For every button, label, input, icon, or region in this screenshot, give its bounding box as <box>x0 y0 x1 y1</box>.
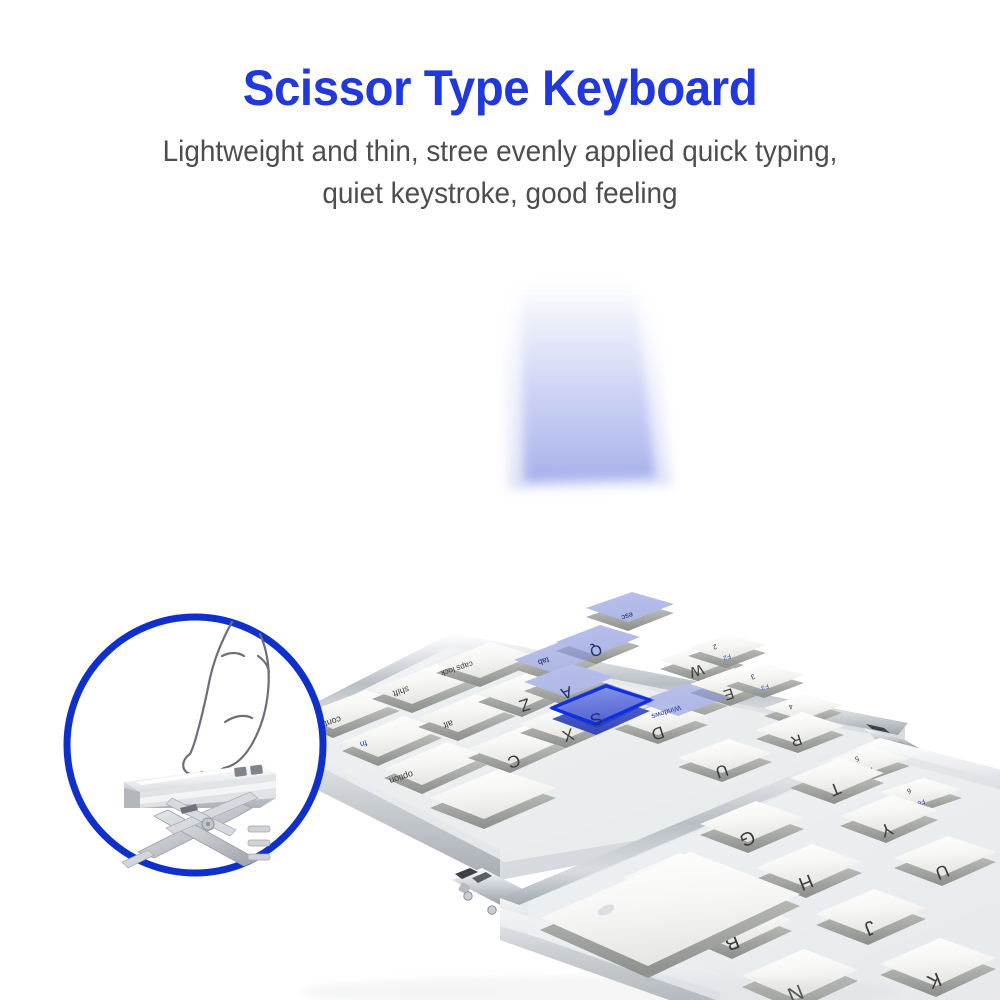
page-title: Scissor Type Keyboard <box>25 62 975 115</box>
page-subtitle: Lightweight and thin, stree evenly appli… <box>82 131 919 216</box>
header-block: Scissor Type Keyboard Lightweight and th… <box>0 62 1000 216</box>
subtitle-line-2: quiet keystroke, good feeling <box>82 173 919 216</box>
beam-halo <box>504 260 672 490</box>
product-marketing-image: Scissor Type Keyboard Lightweight and th… <box>0 0 1000 1000</box>
light-beam <box>504 260 672 490</box>
scissor-mechanism-inset <box>62 612 328 878</box>
subtitle-line-1: Lightweight and thin, stree evenly appli… <box>82 131 919 174</box>
